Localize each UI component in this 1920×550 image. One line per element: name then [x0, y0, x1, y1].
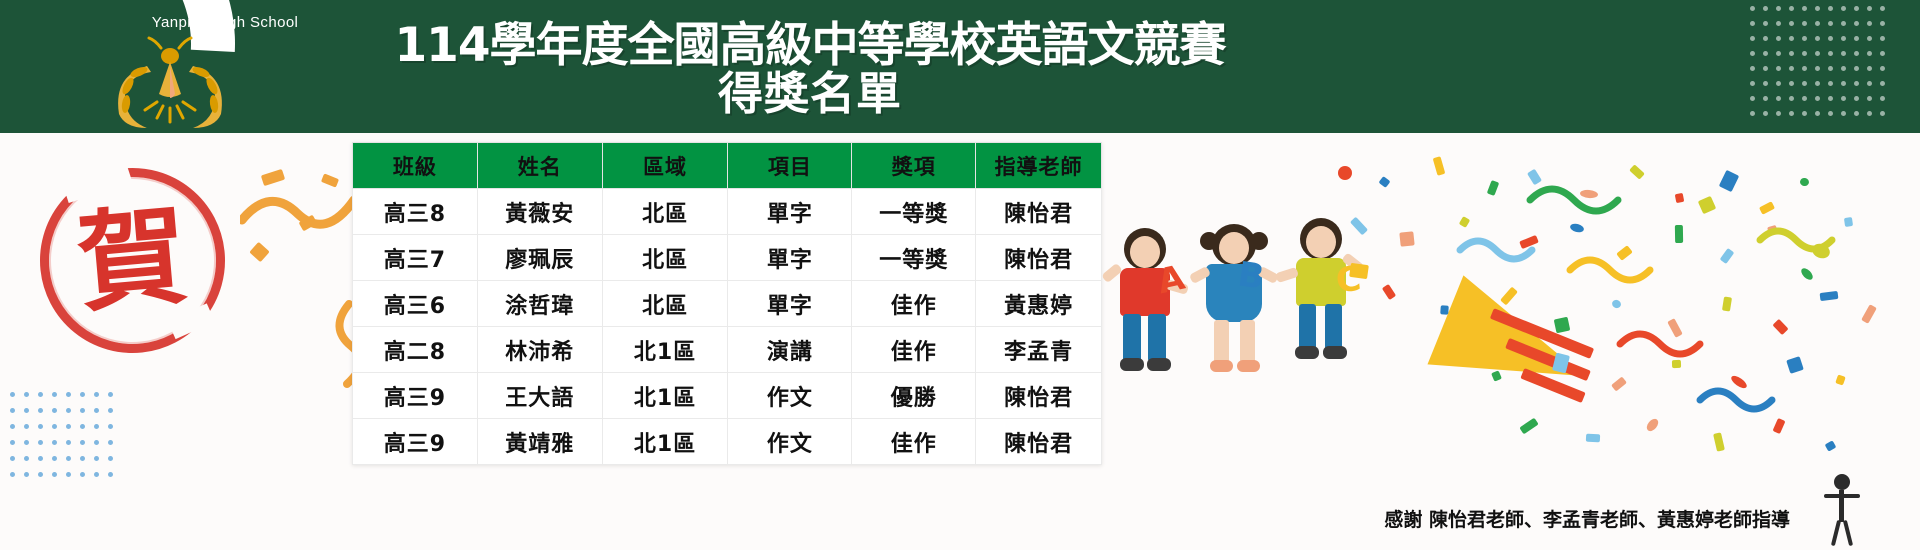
cell-region: 北1區: [602, 327, 728, 373]
cell-category: 作文: [728, 419, 852, 465]
seal-character: 賀: [32, 160, 232, 360]
cell-region: 北區: [602, 281, 728, 327]
confetti-piece: [1675, 193, 1685, 203]
confetti-piece: [1586, 434, 1600, 443]
child-shoe-5: [1295, 346, 1319, 359]
cell-name: 廖珮辰: [477, 235, 602, 281]
confetti-piece: [1799, 266, 1815, 282]
cell-name: 黃薇安: [477, 189, 602, 235]
cell-class: 高三7: [353, 235, 478, 281]
cell-category: 作文: [728, 373, 852, 419]
column-header-award: 獎項: [852, 143, 976, 189]
confetti-piece: [1835, 374, 1845, 385]
confetti-piece: [1786, 356, 1804, 374]
person-arms: [1824, 494, 1860, 498]
confetti-piece: [1719, 170, 1739, 192]
cell-name: 黃靖雅: [477, 419, 602, 465]
child-face-3: [1306, 226, 1336, 258]
confetti-piece: [1844, 217, 1853, 227]
cell-award: 一等獎: [852, 235, 976, 281]
cell-teacher: 陳怡君: [976, 189, 1102, 235]
celebration-illustration: A B C: [1100, 160, 1920, 550]
table-header-row: 班級 姓名 區域 項目 獎項 指導老師: [353, 143, 1102, 189]
confetti-piece: [1820, 291, 1839, 301]
confetti-piece: [1729, 374, 1748, 391]
dot-grid-decoration: [10, 392, 130, 512]
title-line-1: 114學年度全國高級中等學校英語文競賽: [280, 22, 1340, 70]
table-row: 高三7廖珮辰北區單字一等獎陳怡君: [353, 235, 1102, 281]
award-banner: Yanping High School: [0, 0, 1920, 550]
cell-teacher: 陳怡君: [976, 373, 1102, 419]
child-leg-4: [1240, 320, 1255, 364]
confetti-piece: [1698, 196, 1716, 214]
confetti-piece: [1713, 432, 1725, 451]
banner-title: 114學年度全國高級中等學校英語文競賽 得獎名單: [280, 22, 1340, 117]
cell-name: 林沛希: [477, 327, 602, 373]
cell-teacher: 黃惠婷: [976, 281, 1102, 327]
confetti-piece: [1580, 189, 1599, 199]
table-row: 高三9黃靖雅北1區作文佳作陳怡君: [353, 419, 1102, 465]
confetti-piece: [1554, 317, 1571, 334]
confetti-piece: [1433, 156, 1446, 176]
cell-name: 涂哲瑋: [477, 281, 602, 327]
confetti-piece: [1569, 222, 1585, 233]
column-header-class: 班級: [353, 143, 478, 189]
confetti-piece: [1825, 440, 1837, 451]
confetti-piece: [1667, 318, 1683, 338]
cell-class: 高三9: [353, 373, 478, 419]
cell-award: 一等獎: [852, 189, 976, 235]
confetti-piece: [1772, 418, 1785, 434]
cell-teacher: 李孟青: [976, 327, 1102, 373]
confetti-piece: [1861, 304, 1877, 324]
confetti-piece: [1722, 296, 1732, 311]
child-shoe-2: [1147, 358, 1171, 371]
cell-award: 佳作: [852, 281, 976, 327]
cell-category: 單字: [728, 189, 852, 235]
child-leg-3: [1214, 320, 1229, 364]
person-leg-left: [1831, 520, 1841, 546]
wavy-ribbon-icon: [240, 180, 360, 240]
banner-header: Yanping High School: [0, 0, 1920, 133]
party-popper-icon: [1400, 270, 1640, 460]
cell-region: 北區: [602, 235, 728, 281]
confetti-piece: [1629, 164, 1645, 179]
dot-pattern-decoration: [1750, 6, 1900, 124]
confetti-piece: [1440, 305, 1449, 315]
confetti-piece: [1772, 319, 1788, 335]
cell-class: 高三9: [353, 419, 478, 465]
person-leg-right: [1843, 520, 1853, 546]
child-shoe-6: [1323, 346, 1347, 359]
cell-region: 北1區: [602, 419, 728, 465]
cell-class: 高二8: [353, 327, 478, 373]
cell-class: 高三6: [353, 281, 478, 327]
child-leg-6: [1325, 304, 1342, 350]
school-emblem-icon: [95, 36, 245, 131]
ribbon-decoration-4: [249, 242, 270, 262]
confetti-piece: [1399, 231, 1414, 246]
cell-teacher: 陳怡君: [976, 419, 1102, 465]
cell-name: 王大語: [477, 373, 602, 419]
child-figure-1: [1104, 228, 1190, 378]
child-shoe-4: [1237, 360, 1260, 372]
title-line-2: 得獎名單: [280, 71, 1340, 117]
cell-class: 高三8: [353, 189, 478, 235]
column-header-region: 區域: [602, 143, 728, 189]
confetti-piece: [1810, 241, 1832, 260]
thanks-credit-text: 感謝 陳怡君老師、李孟青老師、黃惠婷老師指導: [1384, 505, 1790, 532]
confetti-piece: [1487, 180, 1499, 196]
cell-category: 單字: [728, 235, 852, 281]
cell-category: 單字: [728, 281, 852, 327]
confetti-piece: [1672, 360, 1681, 368]
confetti-piece: [1675, 225, 1683, 243]
confetti-piece: [1338, 166, 1352, 180]
cell-teacher: 陳怡君: [976, 235, 1102, 281]
cell-region: 北區: [602, 189, 728, 235]
table-row: 高二8林沛希北1區演講佳作李孟青: [353, 327, 1102, 373]
table-row: 高三8黃薇安北區單字一等獎陳怡君: [353, 189, 1102, 235]
cell-category: 演講: [728, 327, 852, 373]
cell-region: 北1區: [602, 373, 728, 419]
winners-table-wrap: 班級 姓名 區域 項目 獎項 指導老師 高三8黃薇安北區單字一等獎陳怡君高三7廖…: [352, 142, 1102, 465]
confetti-piece: [1459, 216, 1470, 228]
cell-award: 優勝: [852, 373, 976, 419]
child-pigtail-right: [1250, 232, 1268, 250]
cell-award: 佳作: [852, 327, 976, 373]
confetti-piece: [1616, 245, 1633, 261]
child-figure-2: [1192, 222, 1280, 380]
person-head: [1834, 474, 1850, 490]
person-silhouette-icon: [1822, 474, 1862, 546]
child-pigtail-left: [1200, 232, 1218, 250]
child-leg-1: [1123, 314, 1141, 362]
congratulation-seal: 賀: [40, 168, 225, 353]
cell-award: 佳作: [852, 419, 976, 465]
child-leg-2: [1148, 314, 1166, 362]
child-shoe-3: [1210, 360, 1233, 372]
column-header-name: 姓名: [477, 143, 602, 189]
confetti-piece: [1349, 263, 1369, 279]
confetti-piece: [1519, 235, 1539, 249]
table-row: 高三6涂哲瑋北區單字佳作黃惠婷: [353, 281, 1102, 327]
winners-table: 班級 姓名 區域 項目 獎項 指導老師 高三8黃薇安北區單字一等獎陳怡君高三7廖…: [352, 142, 1102, 465]
confetti-piece: [1720, 248, 1735, 264]
confetti-piece: [1378, 176, 1390, 188]
confetti-piece: [1645, 417, 1661, 434]
column-header-category: 項目: [728, 143, 852, 189]
column-header-teacher: 指導老師: [976, 143, 1102, 189]
child-leg-5: [1299, 304, 1316, 350]
table-row: 高三9王大語北1區作文優勝陳怡君: [353, 373, 1102, 419]
confetti-piece: [1767, 225, 1778, 235]
confetti-piece: [1759, 201, 1775, 214]
letter-b: B: [1235, 254, 1266, 297]
confetti-piece: [1799, 177, 1809, 186]
confetti-piece: [1527, 169, 1542, 186]
child-shoe-1: [1120, 358, 1144, 371]
confetti-piece: [1382, 284, 1396, 300]
